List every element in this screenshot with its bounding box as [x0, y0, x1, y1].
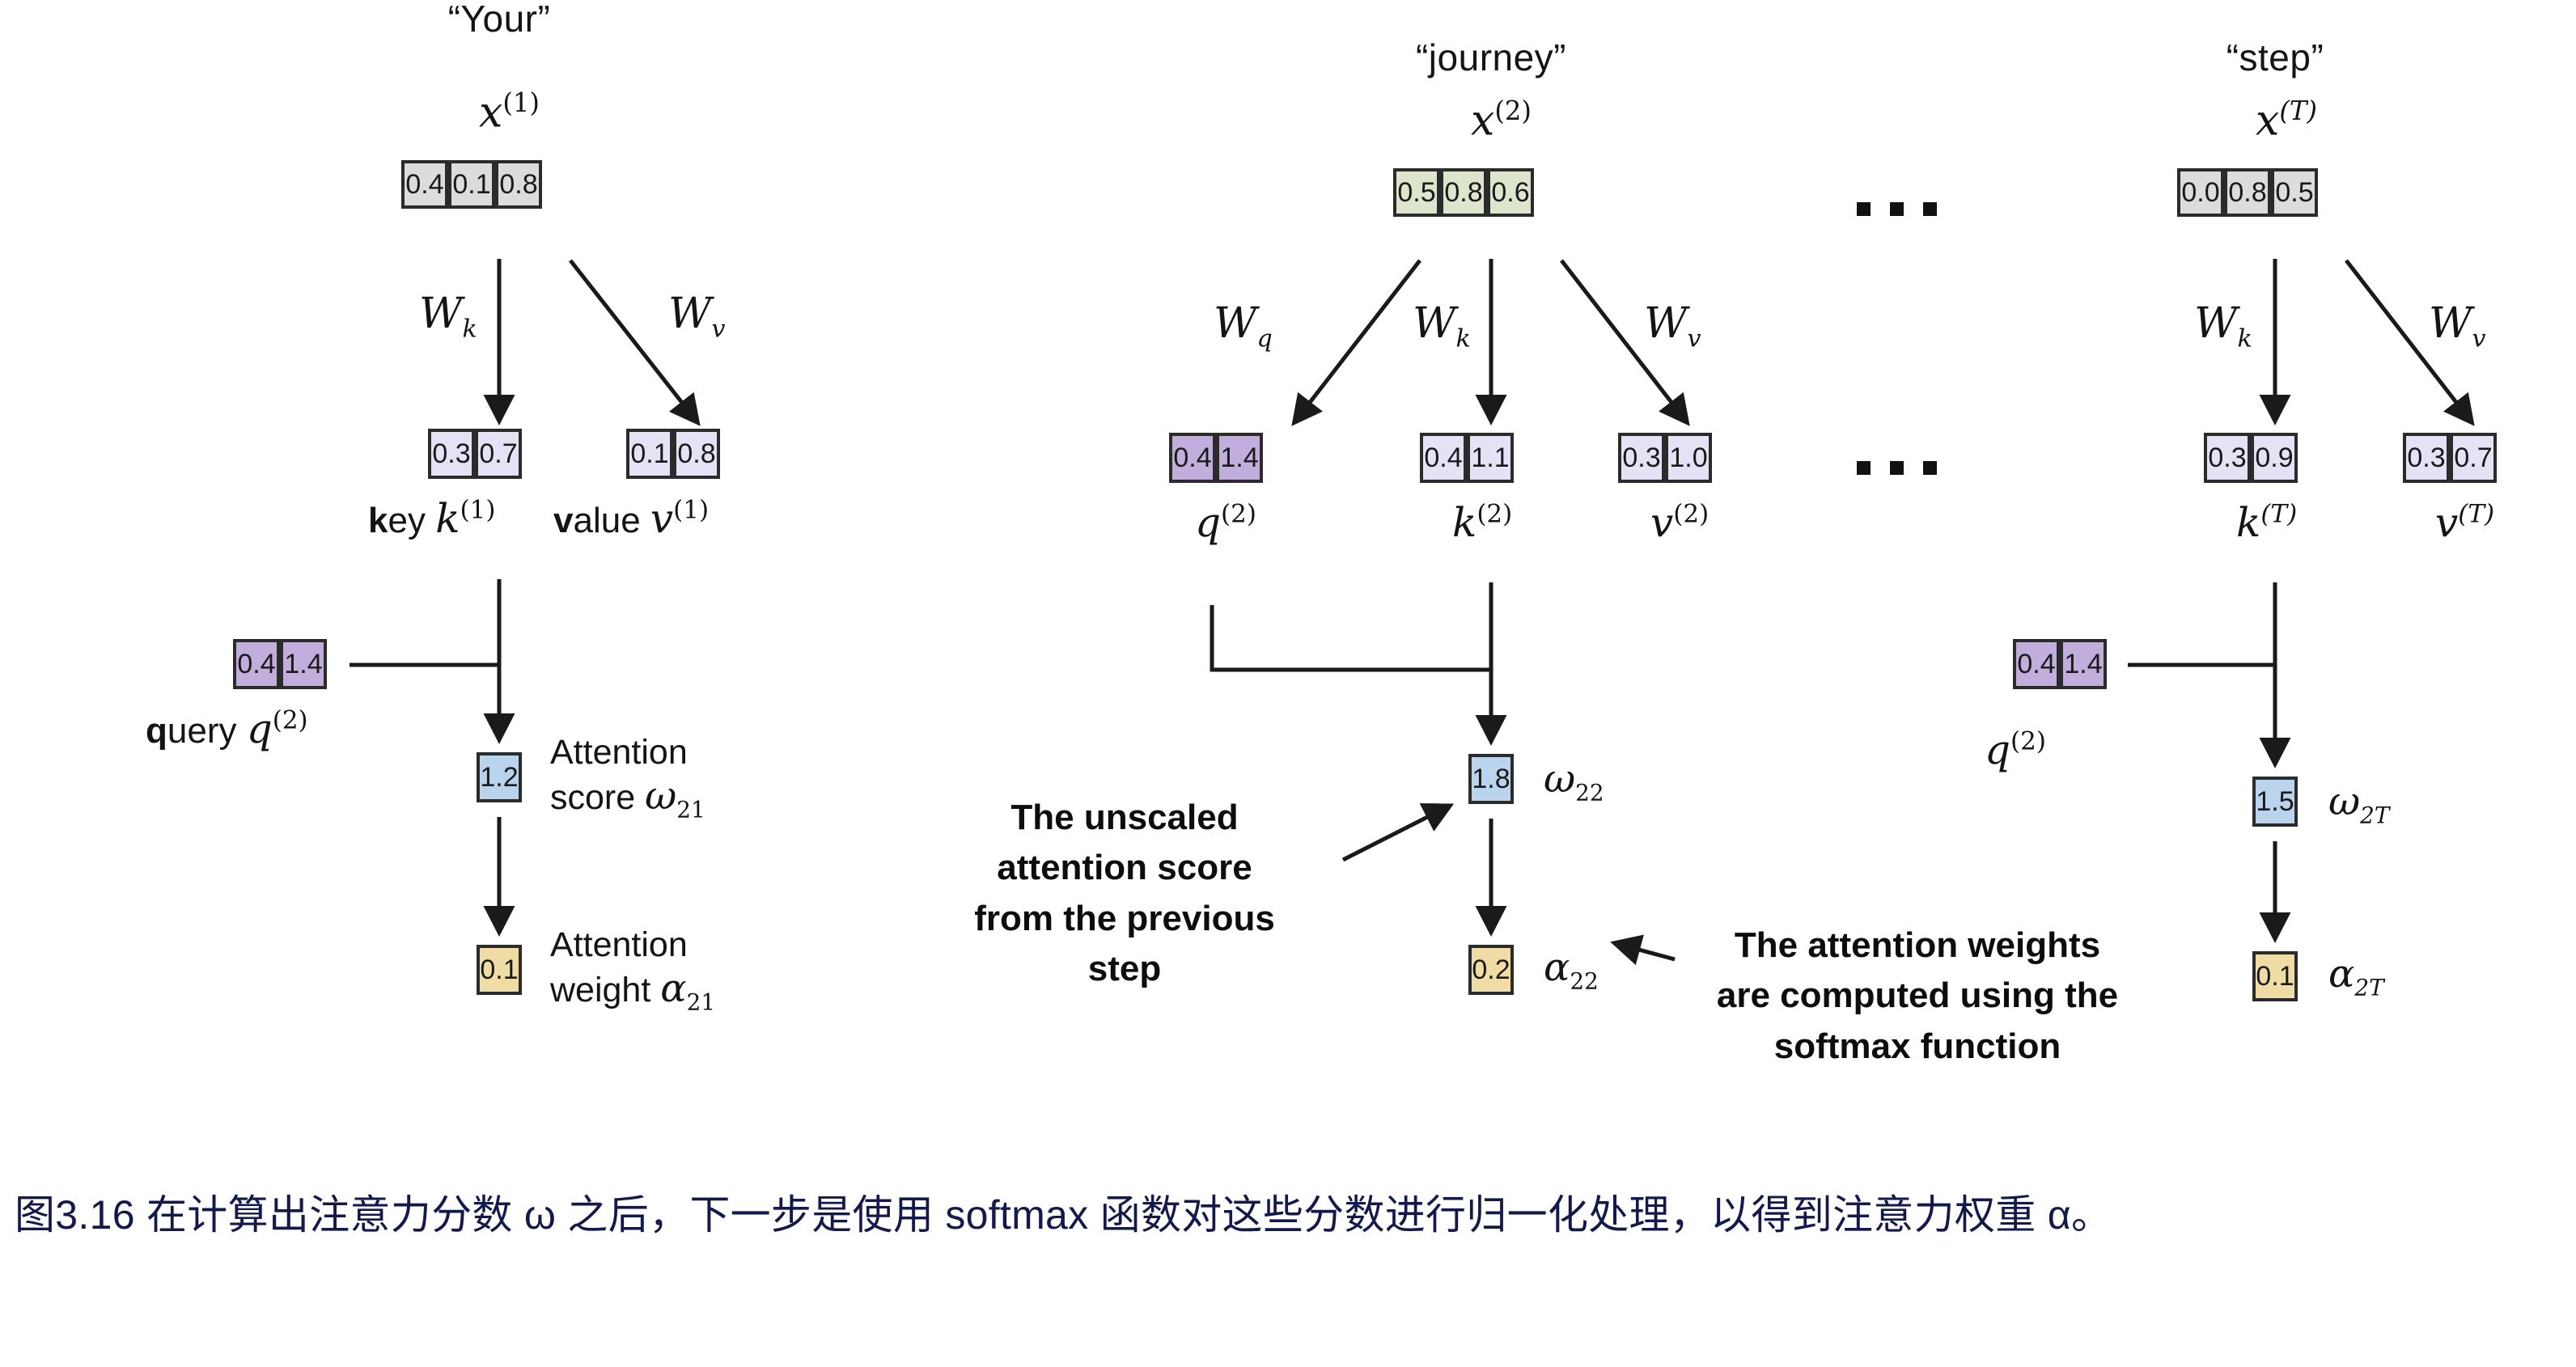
- vector-cell: 0.7: [475, 429, 522, 479]
- vector-cell: 0.8: [2224, 168, 2271, 217]
- query-vector-q2-col2-label: q(2): [1195, 499, 1256, 546]
- callout-softmax-weights: The attention weights are computed using…: [1667, 921, 2168, 1072]
- input-label-x2: x(2): [1471, 95, 1532, 145]
- key-vector-k2: 0.4 1.1: [1420, 433, 1514, 483]
- vector-cell: 1.4: [2060, 639, 2107, 689]
- input-label-x1: x(1): [479, 87, 540, 137]
- value-vector-v1-label: value v(1): [553, 495, 709, 542]
- query-vector-q2-col1-label: query q(2): [146, 705, 308, 752]
- vector-cell: 0.0: [2177, 168, 2224, 217]
- attention-weight-label-alpha22: α22: [1544, 945, 1599, 995]
- vector-cell: 0.3: [2204, 433, 2251, 483]
- key-vector-k2-label: k(2): [1452, 499, 1512, 546]
- weight-label-wv-col1: Wv: [668, 290, 726, 343]
- vector-cell: 1.1: [1467, 433, 1514, 483]
- input-label-xT: x(T): [2256, 95, 2317, 145]
- value-vector-v1: 0.1 0.8: [626, 429, 720, 479]
- figure-caption: 图3.16 在计算出注意力分数 ω 之后，下一步是使用 softmax 函数对这…: [15, 1184, 2539, 1246]
- value-vector-vT: 0.3 0.7: [2403, 433, 2497, 483]
- attention-score-box-omega22: 1.8: [1468, 754, 1514, 804]
- token-word-your: “Your”: [378, 0, 621, 40]
- ellipsis-dot: [1890, 202, 1904, 216]
- vector-cell: 0.3: [428, 429, 475, 479]
- vector-cell: 0.4: [1169, 433, 1216, 483]
- query-vector-q2-col3-label: q(2): [1985, 726, 2046, 773]
- weight-label-wv-col3: Wv: [2429, 299, 2486, 353]
- vector-cell: 0.5: [1393, 168, 1440, 217]
- weight-label-wk-col2: Wk: [1413, 299, 1471, 353]
- attention-diagram: “Your” x(1) 0.4 0.1 0.8 Wk Wv 0.3 0.7 ke…: [0, 0, 2576, 1132]
- weight-label-wk-col3: Wk: [2194, 299, 2252, 353]
- weight-label-wq-col2: Wq: [1214, 299, 1273, 353]
- weight-label-wk-col1: Wk: [419, 290, 477, 343]
- vector-cell: 0.8: [1440, 168, 1487, 217]
- ellipsis-dot: [1857, 461, 1871, 475]
- attention-score-label-omega22: ω22: [1544, 756, 1604, 806]
- vector-cell: 0.6: [1487, 168, 1534, 217]
- input-vector-xT: 0.0 0.8 0.5: [2177, 168, 2318, 217]
- ellipsis-dot: [1923, 461, 1937, 475]
- attention-score-annotation-col1: Attention score ω21: [550, 732, 705, 823]
- vector-cell: 1.4: [1216, 433, 1263, 483]
- vector-cell: 0.9: [2251, 433, 2298, 483]
- input-vector-x2: 0.5 0.8 0.6: [1393, 168, 1534, 217]
- vector-cell: 0.7: [2450, 433, 2497, 483]
- value-vector-vT-label: v(T): [2435, 499, 2494, 546]
- query-vector-q2-col1: 0.4 1.4: [233, 639, 327, 689]
- attention-weight-box-alpha21: 0.1: [477, 945, 522, 995]
- attention-weight-label-alpha2T: α2T: [2328, 951, 2384, 1001]
- input-vector-x1: 0.4 0.1 0.8: [401, 160, 542, 209]
- key-vector-k1-label: key k(1): [368, 495, 495, 542]
- vector-cell: 1.4: [280, 639, 327, 689]
- vector-cell: 0.4: [401, 160, 448, 209]
- vector-cell: 0.3: [2403, 433, 2450, 483]
- attention-score-box-omega21: 1.2: [477, 752, 522, 802]
- token-word-step: “step”: [2194, 36, 2356, 79]
- ellipsis-dot: [1857, 202, 1871, 216]
- ellipsis-dots-bottom: [1857, 461, 1937, 475]
- vector-cell: 0.4: [1420, 433, 1467, 483]
- vector-cell: 1.0: [1665, 433, 1712, 483]
- vector-cell: 0.3: [1618, 433, 1665, 483]
- attention-weight-annotation-col1: Attention weight α21: [550, 925, 715, 1016]
- vector-cell: 0.1: [626, 429, 673, 479]
- attention-score-label-omega2T: ω2T: [2328, 779, 2389, 829]
- vector-cell: 0.1: [448, 160, 495, 209]
- value-vector-v2: 0.3 1.0: [1618, 433, 1712, 483]
- attention-weight-box-alpha22: 0.2: [1468, 945, 1514, 995]
- vector-cell: 0.8: [673, 429, 720, 479]
- key-vector-kT-label: k(T): [2236, 499, 2297, 546]
- weight-label-wv-col2: Wv: [1644, 299, 1701, 353]
- vector-cell: 0.8: [495, 160, 542, 209]
- ellipsis-dot: [1923, 202, 1937, 216]
- query-vector-q2-col2: 0.4 1.4: [1169, 433, 1263, 483]
- query-vector-q2-col3: 0.4 1.4: [2013, 639, 2107, 689]
- key-vector-k1: 0.3 0.7: [428, 429, 522, 479]
- attention-weight-box-alpha2T: 0.1: [2252, 951, 2298, 1001]
- callout-unscaled-score: The unscaled attention score from the pr…: [922, 793, 1327, 995]
- vector-cell: 0.4: [233, 639, 280, 689]
- key-vector-kT: 0.3 0.9: [2204, 433, 2298, 483]
- ellipsis-dot: [1890, 461, 1904, 475]
- value-vector-v2-label: v(2): [1650, 499, 1709, 546]
- vector-cell: 0.5: [2271, 168, 2318, 217]
- vector-cell: 0.4: [2013, 639, 2060, 689]
- ellipsis-dots-top: [1857, 202, 1937, 216]
- token-word-journey: “journey”: [1370, 36, 1612, 79]
- attention-score-box-omega2T: 1.5: [2252, 777, 2298, 827]
